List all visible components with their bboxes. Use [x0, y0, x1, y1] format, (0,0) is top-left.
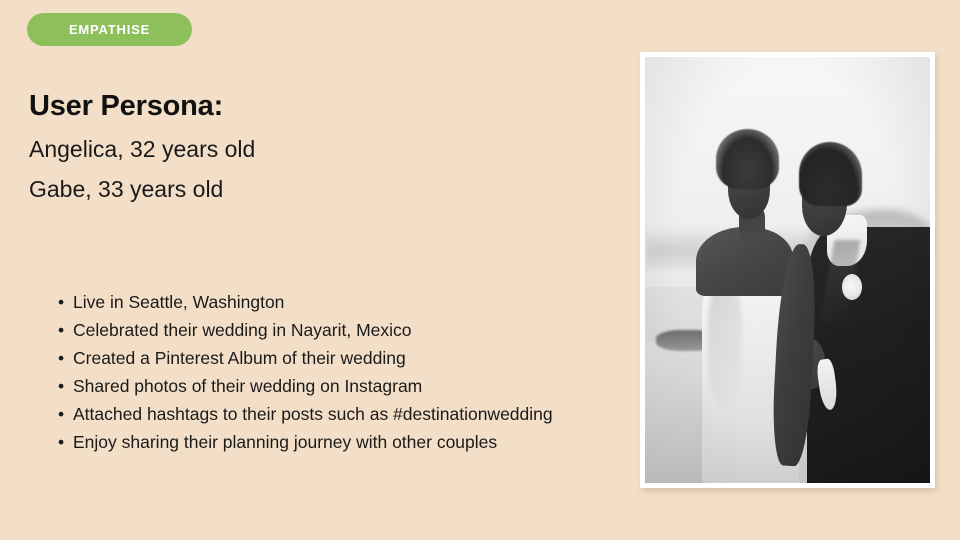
persona-line-angelica: Angelica, 32 years old	[29, 135, 609, 165]
persona-traits-list: Live in Seattle, Washington Celebrated t…	[29, 288, 638, 456]
list-item: Live in Seattle, Washington	[58, 288, 638, 316]
list-item: Enjoy sharing their planning journey wit…	[58, 428, 638, 456]
stage-badge-label: EMPATHISE	[69, 23, 150, 36]
bride-dress-shadow	[708, 279, 742, 407]
persona-photo-card	[640, 52, 935, 488]
list-item: Created a Pinterest Album of their weddi…	[58, 344, 638, 372]
groom-suit	[807, 227, 930, 483]
bride-hair	[716, 129, 779, 189]
persona-heading-block: User Persona: Angelica, 32 years old Gab…	[29, 88, 609, 205]
persona-line-gabe: Gabe, 33 years old	[29, 175, 609, 205]
list-item: Celebrated their wedding in Nayarit, Mex…	[58, 316, 638, 344]
stage-badge-empathise[interactable]: EMPATHISE	[27, 13, 192, 46]
groom-hair	[799, 142, 862, 206]
slide-canvas: EMPATHISE User Persona: Angelica, 32 yea…	[0, 0, 960, 540]
list-item: Attached hashtags to their posts such as…	[58, 400, 638, 428]
wedding-couple-photo	[645, 57, 930, 483]
groom-boutonniere	[842, 274, 862, 300]
list-item: Shared photos of their wedding on Instag…	[58, 372, 638, 400]
page-title: User Persona:	[29, 88, 609, 125]
